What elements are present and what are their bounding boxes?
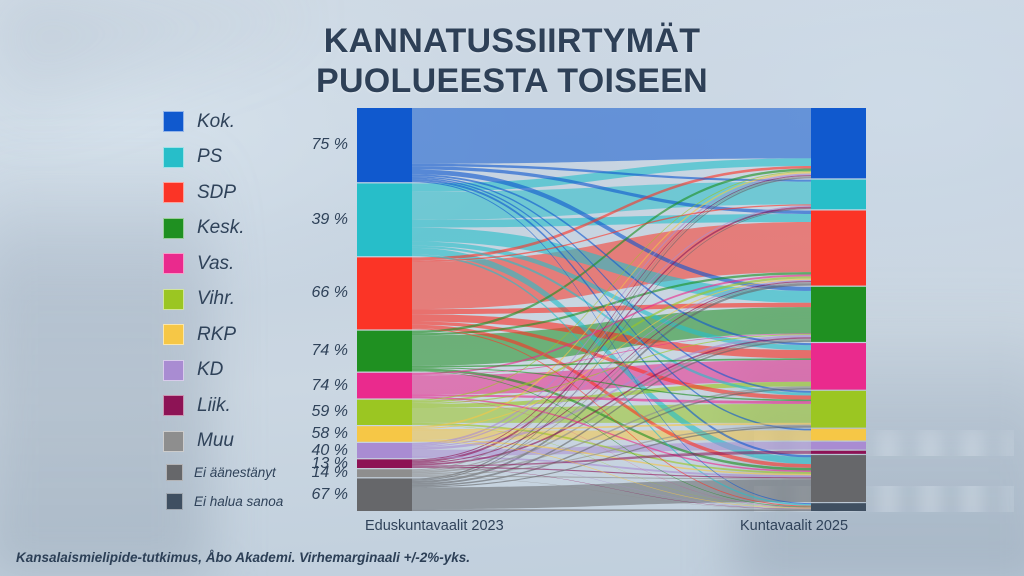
legend-swatch-icon: [163, 431, 184, 452]
sankey-node[interactable]: [811, 455, 866, 502]
retention-label: 14 %: [312, 464, 348, 482]
sankey-node[interactable]: [357, 257, 412, 329]
source-footnote: Kansalaismielipide-tutkimus, Åbo Akademi…: [16, 550, 470, 565]
legend-item-label: PS: [197, 146, 222, 168]
legend-item-label: KD: [197, 359, 223, 381]
sankey-node[interactable]: [811, 180, 866, 210]
sankey-node[interactable]: [357, 108, 412, 182]
retention-value-labels: 75 %39 %66 %74 %74 %59 %58 %40 %13 %14 %…: [250, 108, 348, 511]
legend-item-label: Liik.: [197, 395, 231, 417]
axis-caption-left: Eduskuntavaalit 2023: [365, 518, 504, 534]
legend-swatch-icon: [163, 182, 184, 203]
retention-label: 74 %: [312, 377, 348, 395]
axis-caption-right: Kuntavaalit 2025: [740, 518, 848, 534]
retention-label: 66 %: [312, 284, 348, 302]
infographic-root: KANNATUSSIIRTYMÄT PUOLUEESTA TOISEEN Kok…: [0, 0, 1024, 576]
page-title: KANNATUSSIIRTYMÄT PUOLUEESTA TOISEEN: [0, 22, 1024, 102]
sankey-node[interactable]: [357, 400, 412, 425]
legend-swatch-icon: [163, 218, 184, 239]
sankey-node[interactable]: [811, 108, 866, 178]
sankey-node[interactable]: [357, 443, 412, 458]
retention-label: 74 %: [312, 342, 348, 360]
sankey-node[interactable]: [357, 426, 412, 442]
sankey-ribbons: [412, 108, 811, 511]
legend-item-label: Kok.: [197, 111, 235, 133]
sankey-flow[interactable]: [412, 108, 811, 164]
sankey-node[interactable]: [811, 442, 866, 450]
sankey-node[interactable]: [357, 331, 412, 372]
retention-label: 67 %: [312, 486, 348, 504]
sankey-node[interactable]: [357, 478, 412, 511]
legend-swatch-icon: [163, 360, 184, 381]
legend-swatch-icon: [166, 464, 183, 481]
retention-label: 58 %: [312, 425, 348, 443]
retention-label: 59 %: [312, 403, 348, 421]
legend-item-label: Kesk.: [197, 217, 245, 239]
legend-item-label: SDP: [197, 182, 236, 204]
legend-swatch-icon: [163, 147, 184, 168]
sankey-node[interactable]: [811, 451, 866, 454]
sankey-node[interactable]: [357, 183, 412, 256]
legend-item-label: Muu: [197, 430, 234, 452]
sankey-flow[interactable]: [412, 509, 811, 511]
retention-label: 39 %: [312, 211, 348, 229]
sankey-node[interactable]: [357, 469, 412, 477]
sankey-node[interactable]: [357, 459, 412, 468]
sankey-diagram: [357, 108, 866, 511]
legend-swatch-icon: [163, 324, 184, 345]
legend-item-label: Vihr.: [197, 288, 235, 310]
sankey-node[interactable]: [811, 429, 866, 441]
legend-swatch-icon: [163, 111, 184, 132]
sankey-nodes-left: [357, 108, 412, 511]
legend-item-label: RKP: [197, 324, 236, 346]
legend-swatch-icon: [163, 253, 184, 274]
sankey-canvas: [357, 108, 866, 511]
sankey-nodes-right: [811, 108, 866, 511]
page-title-line-2: PUOLUEESTA TOISEEN: [0, 62, 1024, 102]
sankey-node[interactable]: [811, 391, 866, 428]
sankey-node[interactable]: [811, 343, 866, 390]
page-title-line-1: KANNATUSSIIRTYMÄT: [324, 22, 701, 60]
retention-label: 75 %: [312, 136, 348, 154]
legend-item-label: Vas.: [197, 253, 234, 275]
sankey-node[interactable]: [811, 287, 866, 342]
sankey-node[interactable]: [811, 503, 866, 511]
sankey-node[interactable]: [357, 373, 412, 399]
legend-swatch-icon: [163, 395, 184, 416]
sankey-node[interactable]: [811, 210, 866, 285]
legend-swatch-icon: [166, 493, 183, 510]
legend-swatch-icon: [163, 289, 184, 310]
